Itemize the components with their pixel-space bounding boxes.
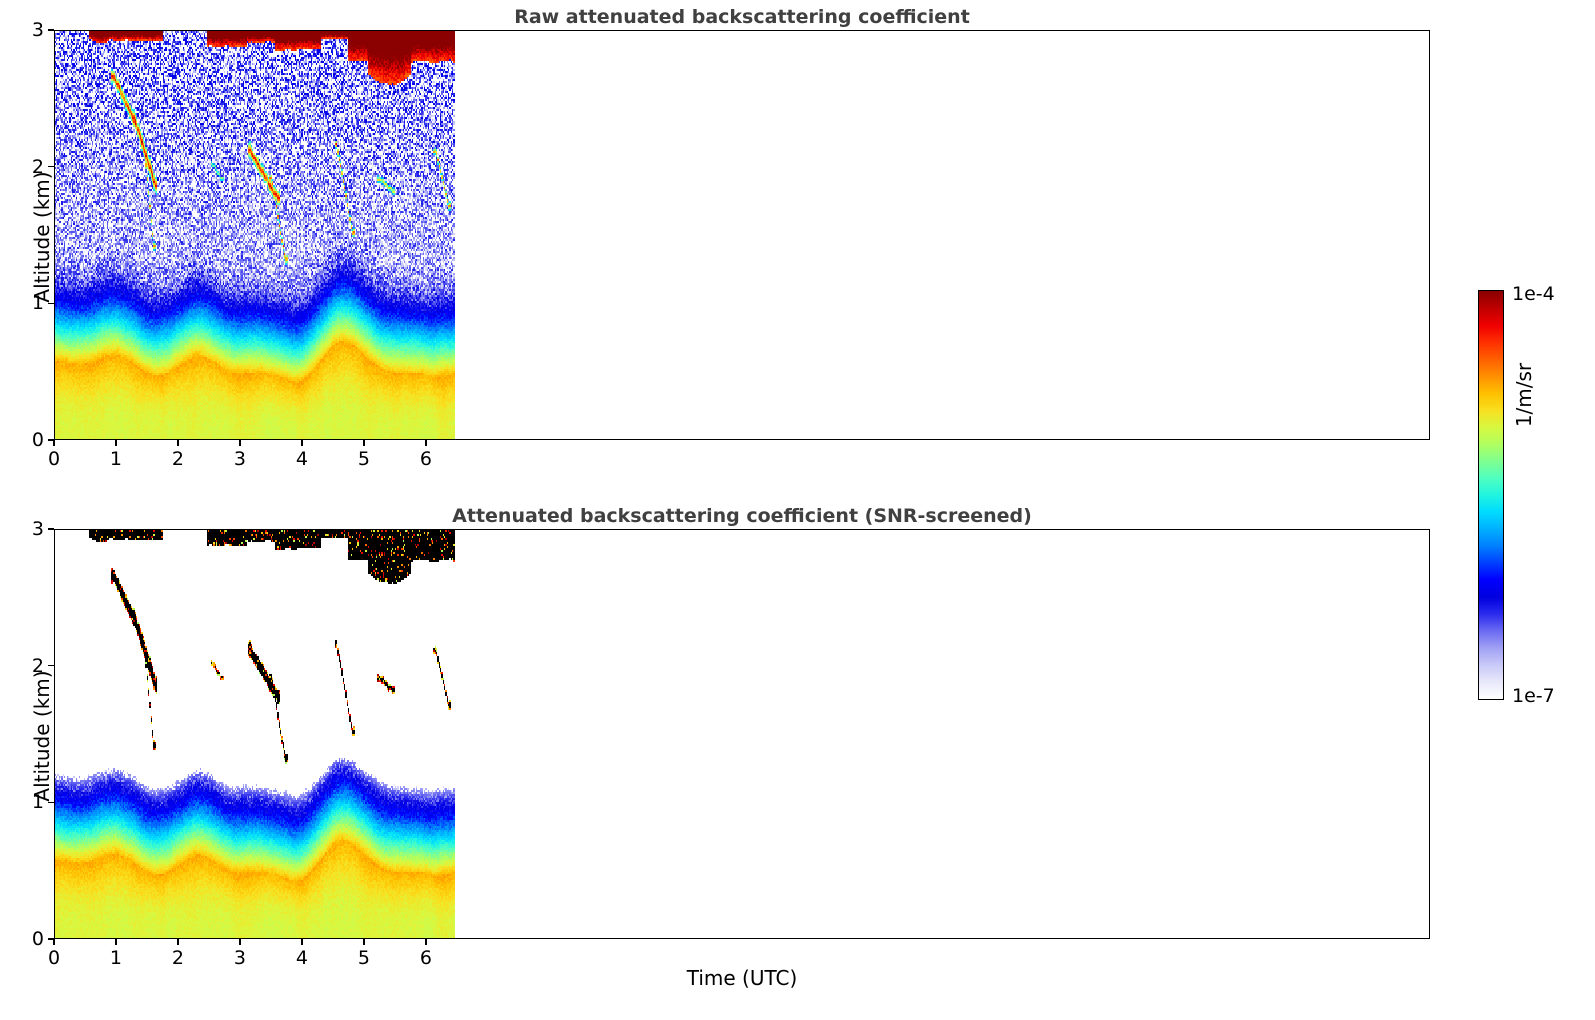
- y-tick-label: 2: [6, 655, 44, 677]
- x-tick-label: 4: [296, 947, 308, 969]
- x-tick-mark: [177, 939, 178, 945]
- x-tick-mark: [115, 939, 116, 945]
- x-tick-mark: [425, 440, 426, 446]
- y-tick-mark: [48, 528, 54, 529]
- x-tick-mark: [301, 939, 302, 945]
- colorbar-unit-label: 1/m/sr: [1512, 295, 1536, 495]
- x-tick-mark: [115, 440, 116, 446]
- x-tick-label: 3: [234, 947, 246, 969]
- y-tick-label: 2: [6, 156, 44, 178]
- x-tick-label: 5: [358, 947, 370, 969]
- x-tick-label: 1: [110, 947, 122, 969]
- y-tick-mark: [48, 29, 54, 30]
- y-tick-mark: [48, 665, 54, 666]
- heatmap-snr: [55, 530, 1430, 939]
- panel-title-snr: Attenuated backscattering coefficient (S…: [54, 505, 1430, 527]
- lidar-figure: Raw attenuated backscattering coefficien…: [0, 0, 1595, 1020]
- x-tick-mark: [363, 440, 364, 446]
- x-tick-mark: [301, 440, 302, 446]
- x-tick-label: 6: [420, 448, 432, 470]
- x-tick-mark: [239, 440, 240, 446]
- y-tick-mark: [48, 303, 54, 304]
- x-tick-label: 2: [172, 448, 184, 470]
- x-axis-label-time: Time (UTC): [54, 966, 1430, 990]
- colorbar-gradient: [1478, 290, 1504, 700]
- x-tick-label: 6: [420, 947, 432, 969]
- plot-area-raw: [54, 30, 1430, 440]
- y-tick-mark: [48, 938, 54, 939]
- y-tick-label: 0: [6, 928, 44, 950]
- y-tick-mark: [48, 439, 54, 440]
- x-tick-mark: [177, 440, 178, 446]
- plot-area-snr: [54, 529, 1430, 939]
- colorbar: 1e-4 1e-7: [1478, 290, 1504, 700]
- heatmap-raw: [55, 31, 1430, 440]
- y-tick-label: 0: [6, 429, 44, 451]
- y-tick-label: 1: [6, 292, 44, 314]
- x-tick-label: 4: [296, 448, 308, 470]
- x-tick-mark: [239, 939, 240, 945]
- x-tick-mark: [363, 939, 364, 945]
- x-tick-label: 2: [172, 947, 184, 969]
- y-tick-label: 3: [6, 19, 44, 41]
- x-tick-mark: [53, 440, 54, 446]
- x-tick-mark: [53, 939, 54, 945]
- panel-title-raw: Raw attenuated backscattering coefficien…: [54, 6, 1430, 28]
- colorbar-min-label: 1e-7: [1512, 685, 1555, 707]
- x-tick-label: 0: [48, 448, 60, 470]
- x-tick-mark: [425, 939, 426, 945]
- y-tick-label: 1: [6, 791, 44, 813]
- y-tick-mark: [48, 166, 54, 167]
- y-tick-mark: [48, 802, 54, 803]
- x-tick-label: 5: [358, 448, 370, 470]
- x-tick-label: 3: [234, 448, 246, 470]
- x-tick-label: 0: [48, 947, 60, 969]
- y-tick-label: 3: [6, 518, 44, 540]
- x-tick-label: 1: [110, 448, 122, 470]
- colorbar-canvas: [1479, 291, 1503, 699]
